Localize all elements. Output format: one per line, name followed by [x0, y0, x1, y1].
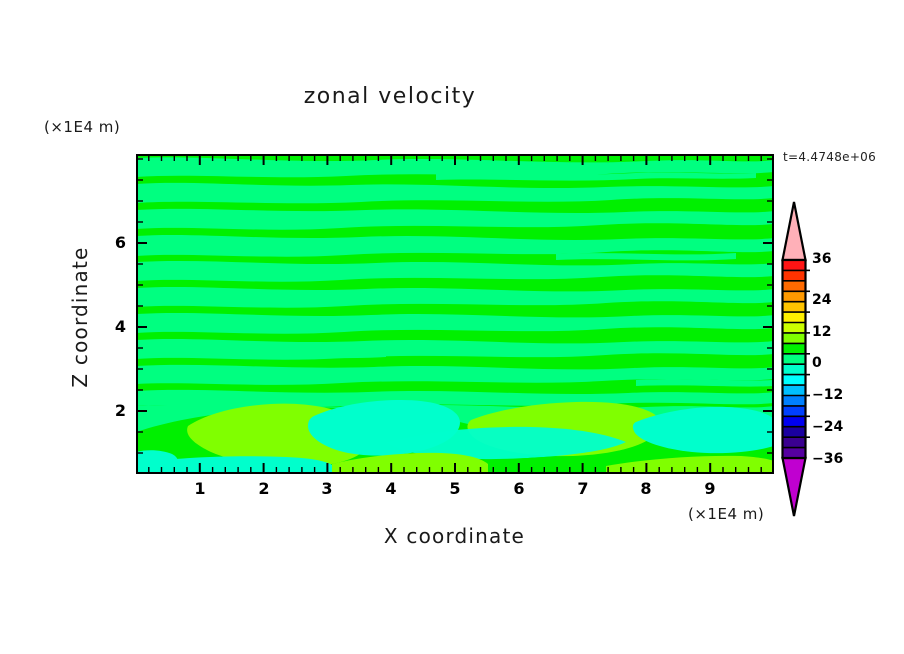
colorbar-under-arrow — [783, 458, 806, 516]
contour-field-panel — [136, 154, 774, 474]
y-tick-label: 2 — [104, 401, 126, 420]
colorbar-tick-label: 12 — [812, 324, 831, 340]
colorbar-bands — [783, 260, 806, 458]
timestamp-annotation: t=4.4748e+06 — [783, 150, 876, 164]
x-tick-label: 4 — [379, 479, 403, 498]
x-tick-label: 7 — [571, 479, 595, 498]
colorbar-tick-label: −36 — [812, 451, 843, 467]
colorbar — [780, 198, 814, 520]
x-axis-unit-label: (×1E4 m) — [688, 505, 764, 523]
x-tick-label: 8 — [634, 479, 658, 498]
colorbar-tick-label: 36 — [812, 251, 831, 267]
contour-plot-figure: zonal velocity (×1E4 m) t=4.4748e+06 — [0, 0, 904, 654]
x-tick-label: 5 — [443, 479, 467, 498]
y-tick-label: 6 — [104, 233, 126, 252]
colorbar-tick-label: 24 — [812, 292, 831, 308]
x-tick-label: 3 — [315, 479, 339, 498]
y-tick-label: 4 — [104, 317, 126, 336]
y-axis-title: Z coordinate — [68, 197, 92, 437]
x-tick-label: 9 — [698, 479, 722, 498]
colorbar-tick-label: −24 — [812, 419, 843, 435]
page-title: zonal velocity — [0, 84, 780, 109]
colorbar-tick-label: 0 — [812, 355, 822, 371]
x-tick-label: 2 — [252, 479, 276, 498]
colorbar-tick-label: −12 — [812, 387, 843, 403]
x-tick-label: 6 — [507, 479, 531, 498]
y-axis-unit-label: (×1E4 m) — [44, 118, 120, 136]
colorbar-over-arrow — [783, 202, 806, 260]
x-axis-title: X coordinate — [136, 524, 773, 548]
x-tick-label: 1 — [188, 479, 212, 498]
